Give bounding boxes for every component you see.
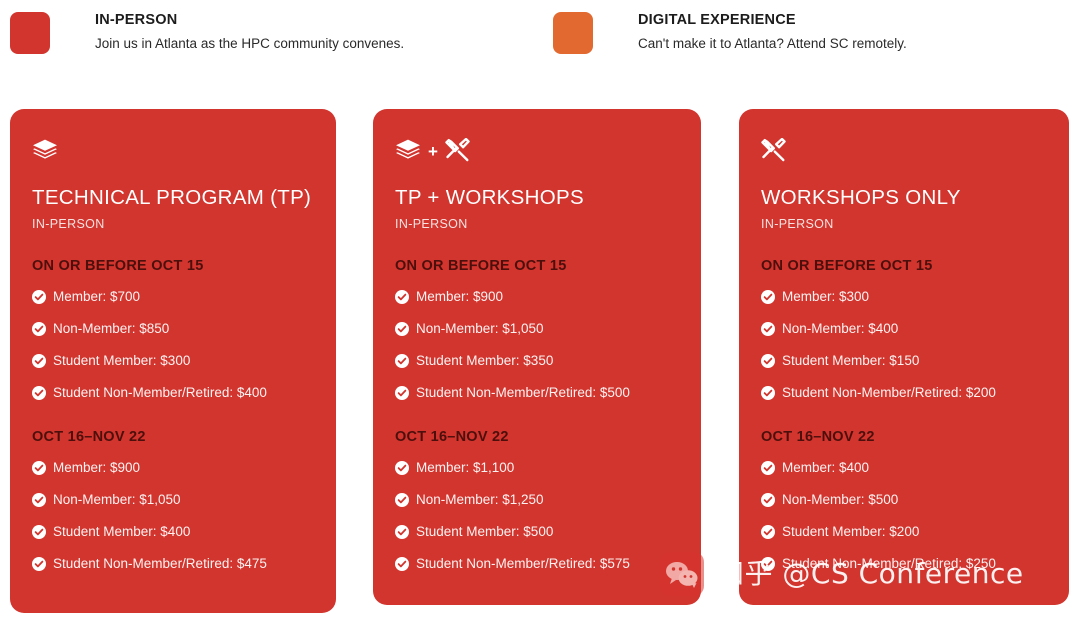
- list-item: Member: $300: [761, 288, 1047, 306]
- legend-text-block: DIGITAL EXPERIENCE Can't make it to Atla…: [638, 10, 907, 55]
- price-text: Non-Member: $500: [782, 491, 898, 509]
- check-circle-icon: [395, 461, 409, 475]
- legend-item-in-person: IN-PERSON Join us in Atlanta as the HPC …: [10, 12, 404, 57]
- legend: IN-PERSON Join us in Atlanta as the HPC …: [0, 0, 1080, 86]
- legend-title: DIGITAL EXPERIENCE: [638, 10, 907, 30]
- check-circle-icon: [32, 386, 46, 400]
- price-text: Member: $1,100: [416, 459, 514, 477]
- tools-icon: [445, 138, 470, 162]
- legend-item-digital-experience: DIGITAL EXPERIENCE Can't make it to Atla…: [553, 12, 907, 57]
- tier-label: OCT 16–NOV 22: [395, 428, 679, 446]
- layers-icon: [395, 138, 421, 162]
- check-circle-icon: [395, 493, 409, 507]
- price-text: Non-Member: $1,050: [416, 320, 544, 338]
- pricing-tier: OCT 16–NOV 22 Member: $900 Non-Member: $…: [32, 428, 314, 573]
- price-text: Student Member: $400: [53, 523, 190, 541]
- price-list: Member: $900 Non-Member: $1,050 Student …: [395, 288, 679, 402]
- list-item: Member: $900: [395, 288, 679, 306]
- tier-label: ON OR BEFORE OCT 15: [761, 257, 1047, 275]
- list-item: Non-Member: $1,050: [32, 491, 314, 509]
- tools-icon: [761, 138, 786, 162]
- price-text: Member: $900: [416, 288, 503, 306]
- price-text: Student Non-Member/Retired: $200: [782, 384, 996, 402]
- list-item: Student Non-Member/Retired: $475: [32, 555, 314, 573]
- list-item: Student Non-Member/Retired: $200: [761, 384, 1047, 402]
- price-text: Non-Member: $400: [782, 320, 898, 338]
- list-item: Student Non-Member/Retired: $500: [395, 384, 679, 402]
- price-list: Member: $900 Non-Member: $1,050 Student …: [32, 459, 314, 573]
- pricing-tier: OCT 16–NOV 22 Member: $400 Non-Member: $…: [761, 428, 1047, 573]
- check-circle-icon: [395, 525, 409, 539]
- check-circle-icon: [761, 386, 775, 400]
- check-circle-icon: [32, 525, 46, 539]
- list-item: Non-Member: $850: [32, 320, 314, 338]
- price-text: Non-Member: $1,050: [53, 491, 181, 509]
- check-circle-icon: [32, 557, 46, 571]
- list-item: Member: $1,100: [395, 459, 679, 477]
- list-item: Student Member: $300: [32, 352, 314, 370]
- pricing-card-workshops-only[interactable]: WORKSHOPS ONLY IN-PERSON ON OR BEFORE OC…: [739, 109, 1069, 605]
- check-circle-icon: [32, 493, 46, 507]
- price-text: Student Member: $500: [416, 523, 553, 541]
- card-mode-label: IN-PERSON: [32, 216, 314, 232]
- card-icon-group: +: [395, 137, 679, 163]
- price-text: Student Non-Member/Retired: $475: [53, 555, 267, 573]
- card-title: WORKSHOPS ONLY: [761, 185, 1047, 211]
- list-item: Student Member: $150: [761, 352, 1047, 370]
- legend-subtitle: Can't make it to Atlanta? Attend SC remo…: [638, 33, 907, 55]
- list-item: Member: $900: [32, 459, 314, 477]
- price-text: Student Non-Member/Retired: $250: [782, 555, 996, 573]
- card-title: TP + WORKSHOPS: [395, 185, 679, 211]
- list-item: Non-Member: $1,250: [395, 491, 679, 509]
- price-list: Member: $300 Non-Member: $400 Student Me…: [761, 288, 1047, 402]
- list-item: Non-Member: $500: [761, 491, 1047, 509]
- check-circle-icon: [395, 386, 409, 400]
- price-list: Member: $700 Non-Member: $850 Student Me…: [32, 288, 314, 402]
- tier-label: OCT 16–NOV 22: [761, 428, 1047, 446]
- check-circle-icon: [32, 461, 46, 475]
- price-text: Student Member: $300: [53, 352, 190, 370]
- pricing-page: IN-PERSON Join us in Atlanta as the HPC …: [0, 0, 1080, 622]
- pricing-tier: ON OR BEFORE OCT 15 Member: $700 Non-Mem…: [32, 257, 314, 402]
- in-person-swatch-icon: [10, 12, 50, 54]
- list-item: Student Non-Member/Retired: $400: [32, 384, 314, 402]
- price-text: Student Non-Member/Retired: $575: [416, 555, 630, 573]
- price-text: Student Member: $150: [782, 352, 919, 370]
- list-item: Non-Member: $400: [761, 320, 1047, 338]
- pricing-tier: OCT 16–NOV 22 Member: $1,100 Non-Member:…: [395, 428, 679, 573]
- check-circle-icon: [395, 290, 409, 304]
- layers-icon: [32, 138, 58, 162]
- list-item: Student Non-Member/Retired: $575: [395, 555, 679, 573]
- price-text: Member: $400: [782, 459, 869, 477]
- price-text: Member: $700: [53, 288, 140, 306]
- card-icon-group: [32, 137, 314, 163]
- tier-label: OCT 16–NOV 22: [32, 428, 314, 446]
- price-text: Member: $900: [53, 459, 140, 477]
- check-circle-icon: [395, 354, 409, 368]
- legend-text-block: IN-PERSON Join us in Atlanta as the HPC …: [95, 10, 404, 55]
- list-item: Member: $700: [32, 288, 314, 306]
- check-circle-icon: [32, 354, 46, 368]
- list-item: Student Member: $200: [761, 523, 1047, 541]
- list-item: Student Member: $350: [395, 352, 679, 370]
- digital-experience-swatch-icon: [553, 12, 593, 54]
- check-circle-icon: [761, 290, 775, 304]
- price-text: Student Member: $200: [782, 523, 919, 541]
- list-item: Student Non-Member/Retired: $250: [761, 555, 1047, 573]
- plus-sign-icon: +: [428, 143, 438, 160]
- legend-subtitle: Join us in Atlanta as the HPC community …: [95, 33, 404, 55]
- price-text: Non-Member: $850: [53, 320, 169, 338]
- price-text: Member: $300: [782, 288, 869, 306]
- pricing-tier: ON OR BEFORE OCT 15 Member: $900 Non-Mem…: [395, 257, 679, 402]
- pricing-card-technical-program[interactable]: TECHNICAL PROGRAM (TP) IN-PERSON ON OR B…: [10, 109, 336, 613]
- card-mode-label: IN-PERSON: [395, 216, 679, 232]
- pricing-card-tp-plus-workshops[interactable]: + TP + WORKSHOPS IN-PERSON ON OR BEFORE …: [373, 109, 701, 605]
- price-text: Student Non-Member/Retired: $400: [53, 384, 267, 402]
- price-text: Student Non-Member/Retired: $500: [416, 384, 630, 402]
- price-text: Non-Member: $1,250: [416, 491, 544, 509]
- check-circle-icon: [761, 461, 775, 475]
- tier-label: ON OR BEFORE OCT 15: [32, 257, 314, 275]
- check-circle-icon: [761, 354, 775, 368]
- price-list: Member: $1,100 Non-Member: $1,250 Studen…: [395, 459, 679, 573]
- check-circle-icon: [761, 525, 775, 539]
- list-item: Non-Member: $1,050: [395, 320, 679, 338]
- legend-title: IN-PERSON: [95, 10, 404, 30]
- tier-label: ON OR BEFORE OCT 15: [395, 257, 679, 275]
- check-circle-icon: [395, 322, 409, 336]
- list-item: Student Member: $500: [395, 523, 679, 541]
- list-item: Student Member: $400: [32, 523, 314, 541]
- price-list: Member: $400 Non-Member: $500 Student Me…: [761, 459, 1047, 573]
- check-circle-icon: [761, 322, 775, 336]
- check-circle-icon: [761, 493, 775, 507]
- card-mode-label: IN-PERSON: [761, 216, 1047, 232]
- check-circle-icon: [32, 322, 46, 336]
- check-circle-icon: [32, 290, 46, 304]
- card-icon-group: [761, 137, 1047, 163]
- list-item: Member: $400: [761, 459, 1047, 477]
- check-circle-icon: [395, 557, 409, 571]
- price-text: Student Member: $350: [416, 352, 553, 370]
- pricing-tier: ON OR BEFORE OCT 15 Member: $300 Non-Mem…: [761, 257, 1047, 402]
- card-title: TECHNICAL PROGRAM (TP): [32, 185, 314, 211]
- check-circle-icon: [761, 557, 775, 571]
